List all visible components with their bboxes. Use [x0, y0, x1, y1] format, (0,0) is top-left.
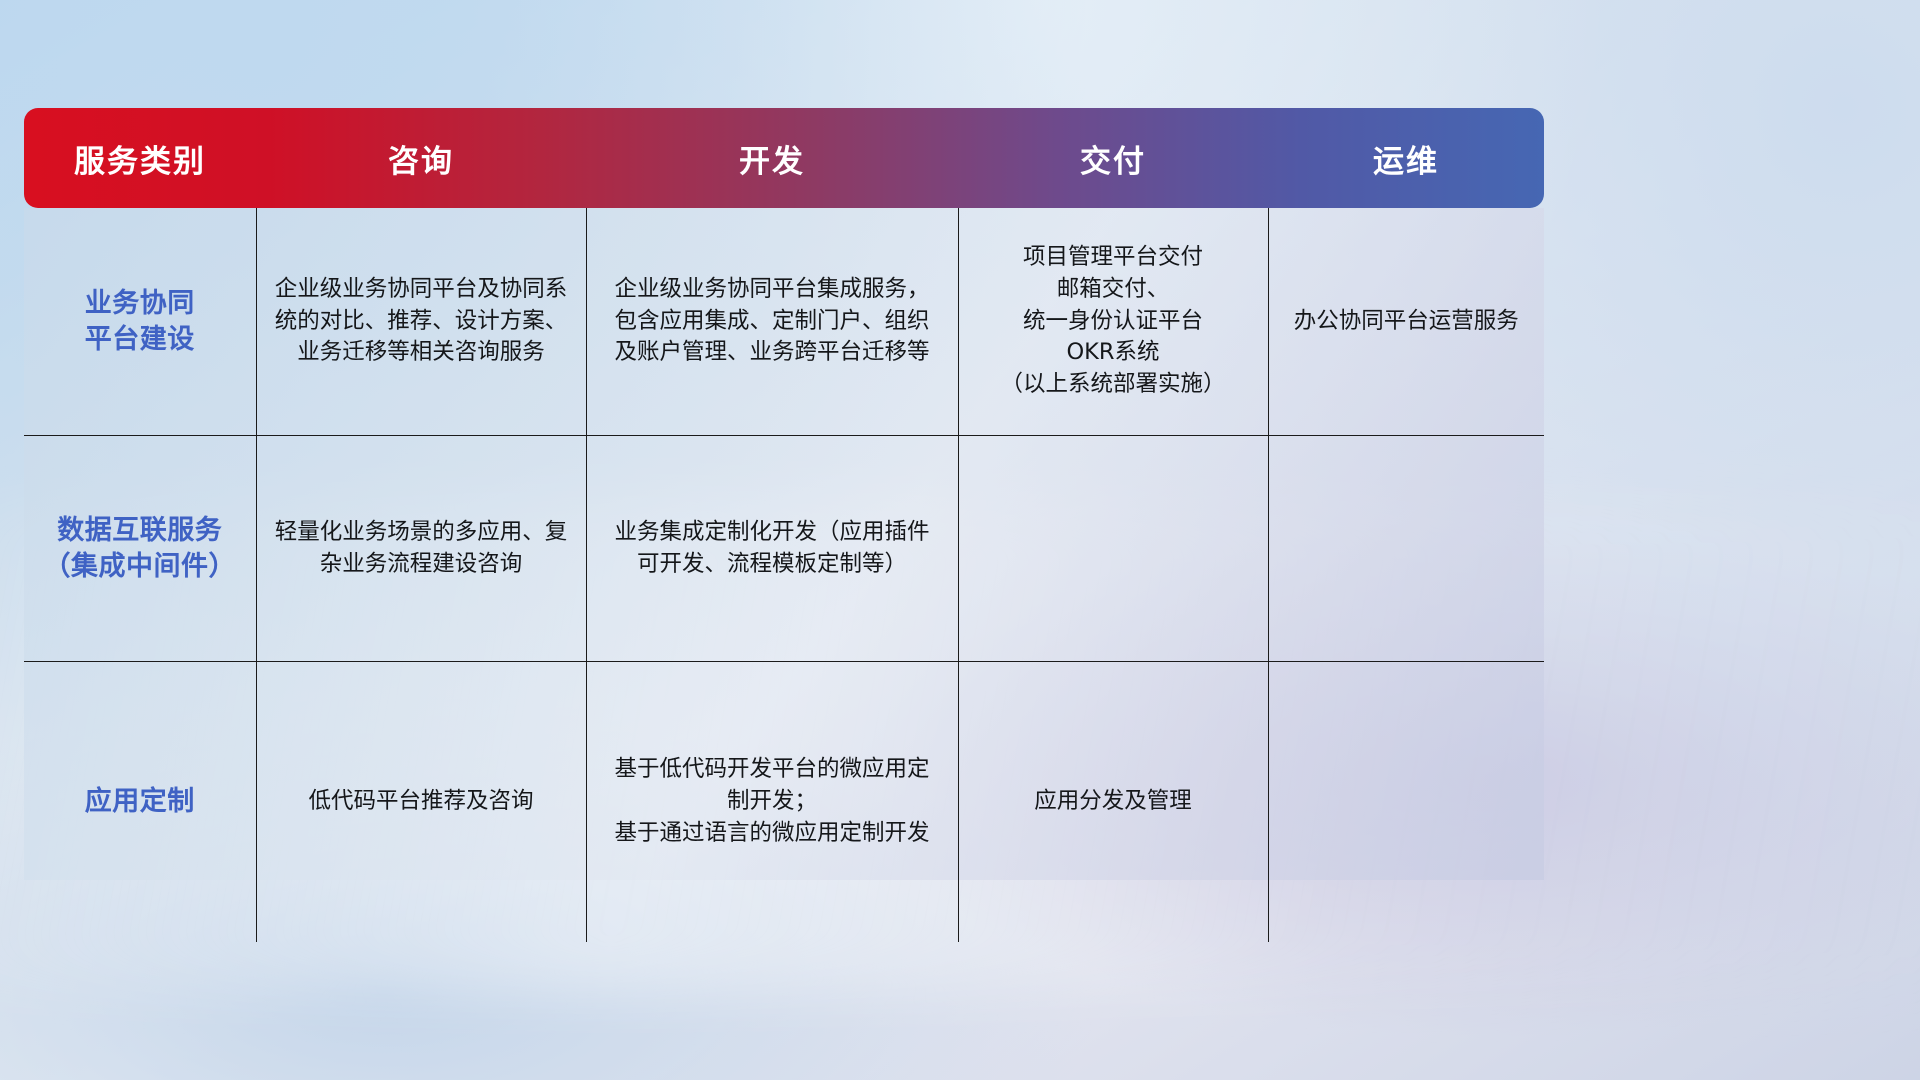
- service-matrix-container: 服务类别 咨询 开发 交付 运维 业务协同 平台建设 企业级业务协同平台及协同系…: [24, 108, 1544, 942]
- cell-operations: [1268, 662, 1544, 943]
- cell-development: 企业级业务协同平台集成服务， 包含应用集成、定制门户、组织 及账户管理、业务跨平…: [586, 208, 958, 436]
- column-header-operations: 运维: [1268, 108, 1544, 208]
- row-category-label: 数据互联服务 （集成中间件）: [24, 436, 256, 662]
- column-header-category: 服务类别: [24, 108, 256, 208]
- table-row: 业务协同 平台建设 企业级业务协同平台及协同系 统的对比、推荐、设计方案、 业务…: [24, 208, 1544, 436]
- table-row: 数据互联服务 （集成中间件） 轻量化业务场景的多应用、复 杂业务流程建设咨询 业…: [24, 436, 1544, 662]
- cell-delivery: [958, 436, 1268, 662]
- table-header: 服务类别 咨询 开发 交付 运维: [24, 108, 1544, 208]
- cell-operations: [1268, 436, 1544, 662]
- table-header-row: 服务类别 咨询 开发 交付 运维: [24, 108, 1544, 208]
- cell-consulting: 企业级业务协同平台及协同系 统的对比、推荐、设计方案、 业务迁移等相关咨询服务: [256, 208, 586, 436]
- table-row: 应用定制 低代码平台推荐及咨询 基于低代码开发平台的微应用定 制开发； 基于通过…: [24, 662, 1544, 943]
- cell-consulting: 轻量化业务场景的多应用、复 杂业务流程建设咨询: [256, 436, 586, 662]
- row-category-label: 业务协同 平台建设: [24, 208, 256, 436]
- cell-delivery: 项目管理平台交付 邮箱交付、 统一身份认证平台 OKR系统 （以上系统部署实施）: [958, 208, 1268, 436]
- service-matrix-table: 服务类别 咨询 开发 交付 运维 业务协同 平台建设 企业级业务协同平台及协同系…: [24, 108, 1544, 942]
- table-body: 业务协同 平台建设 企业级业务协同平台及协同系 统的对比、推荐、设计方案、 业务…: [24, 208, 1544, 942]
- cell-delivery: 应用分发及管理: [958, 662, 1268, 943]
- column-header-consulting: 咨询: [256, 108, 586, 208]
- column-header-delivery: 交付: [958, 108, 1268, 208]
- cell-operations: 办公协同平台运营服务: [1268, 208, 1544, 436]
- row-category-label: 应用定制: [24, 662, 256, 943]
- column-header-development: 开发: [586, 108, 958, 208]
- cell-development: 基于低代码开发平台的微应用定 制开发； 基于通过语言的微应用定制开发: [586, 662, 958, 943]
- cell-consulting: 低代码平台推荐及咨询: [256, 662, 586, 943]
- cell-development: 业务集成定制化开发（应用插件 可开发、流程模板定制等）: [586, 436, 958, 662]
